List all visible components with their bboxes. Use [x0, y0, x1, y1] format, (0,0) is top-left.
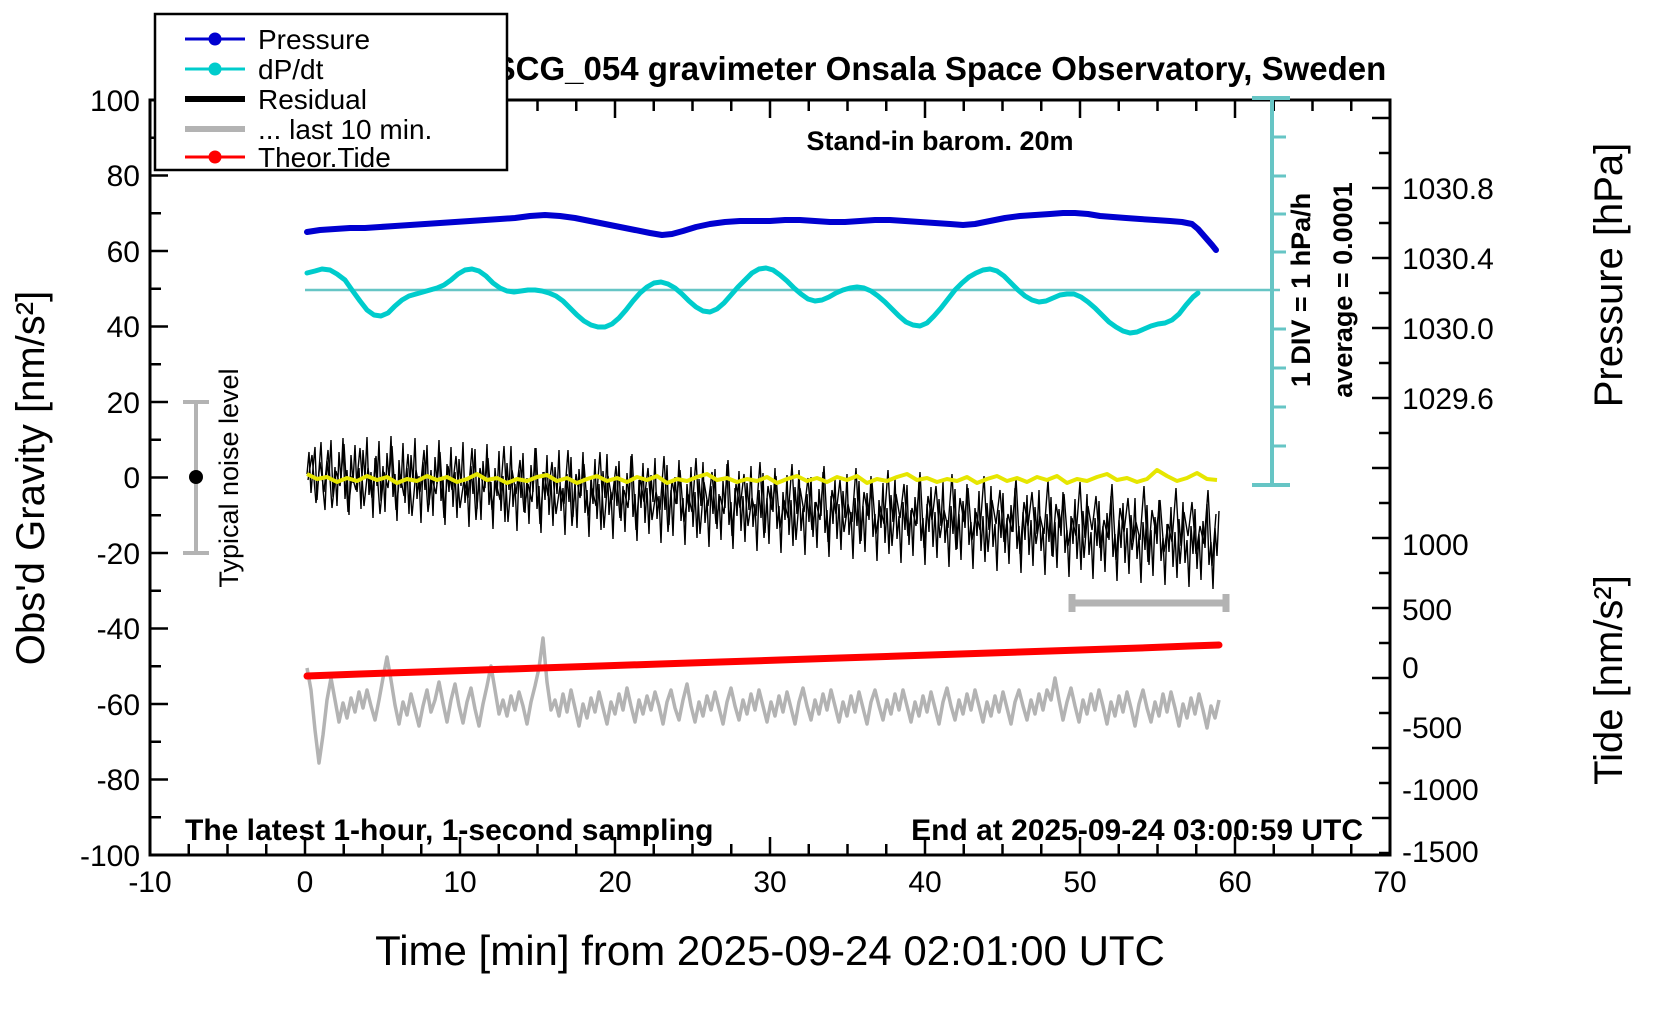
bottom-tick-label: 40: [908, 866, 941, 899]
right-bottom-tick-label: -1000: [1402, 774, 1479, 807]
right-top-tick-label: 1030.4: [1402, 243, 1494, 276]
bottom-tick-label: 30: [753, 866, 786, 899]
bottom-tick-label: 0: [297, 866, 314, 899]
typical-noise-level-marker: Typical noise level: [183, 368, 244, 587]
left-tick-label: -80: [97, 764, 140, 797]
legend-label: Pressure: [258, 24, 370, 55]
end-time-label: End at 2025-09-24 03:00:59 UTC: [911, 814, 1363, 847]
right-top-tick-label: 1030.0: [1402, 313, 1494, 346]
left-tick-label: 100: [90, 85, 140, 118]
tide-legend-marker: [209, 151, 222, 164]
gravimeter-plot-page: 100 80 60 40 20 0 -20 -40 -60 -80 -100 O…: [0, 0, 1660, 1020]
left-tick-label: -60: [97, 689, 140, 722]
typical-noise-level-label: Typical noise level: [214, 368, 244, 587]
bottom-tick-label: 70: [1373, 866, 1406, 899]
left-tick-label: 80: [107, 160, 140, 193]
dpdt-legend-marker: [209, 63, 222, 76]
bottom-tick-label: 50: [1063, 866, 1096, 899]
bottom-tick-label: 60: [1218, 866, 1251, 899]
legend-label: Theor.Tide: [258, 142, 391, 173]
left-tick-label: 60: [107, 236, 140, 269]
bottom-tick-label: 10: [443, 866, 476, 899]
pressure-legend-marker: [209, 33, 222, 46]
left-tick-label: 20: [107, 387, 140, 420]
right-bottom-tick-label: -1500: [1402, 836, 1479, 869]
noise-level-center-dot: [189, 470, 203, 484]
right-top-tick-label: 1029.6: [1402, 383, 1494, 416]
right-bottom-tick-label: -500: [1402, 712, 1462, 745]
plot-canvas: 100 80 60 40 20 0 -20 -40 -60 -80 -100 O…: [0, 0, 1660, 1020]
right-top-axis-title: Pressure [hPa]: [1587, 143, 1631, 408]
right-bottom-tick-label: 1000: [1402, 529, 1469, 562]
right-top-tick-label: 1030.8: [1402, 173, 1494, 206]
legend-label: Residual: [258, 84, 367, 115]
right-bottom-axis-title: Tide [nm/s²]: [1587, 575, 1631, 785]
standin-barom-label: Stand-in barom. 20m: [806, 126, 1073, 156]
bottom-tick-label: 20: [598, 866, 631, 899]
bottom-axis-title: Time [min] from 2025-09-24 02:01:00 UTC: [375, 927, 1165, 974]
left-tick-label: 0: [123, 462, 140, 495]
left-axis-title: Obs'd Gravity [nm/s²]: [9, 291, 53, 665]
right-bottom-tick-label: 0: [1402, 652, 1419, 685]
legend: Pressure dP/dt Residual ... last 10 min.…: [155, 14, 507, 173]
sampling-note-label: The latest 1-hour, 1-second sampling: [185, 814, 713, 847]
average-label: average = 0.0001: [1328, 182, 1358, 397]
bottom-tick-label: -10: [128, 866, 171, 899]
left-tick-label: -40: [97, 613, 140, 646]
page-title: SCG_054 gravimeter Onsala Space Observat…: [494, 50, 1387, 87]
div-scale-label: 1 DIV = 1 hPa/h: [1286, 193, 1316, 387]
left-tick-label: -20: [97, 538, 140, 571]
legend-label: dP/dt: [258, 54, 324, 85]
right-bottom-tick-label: 500: [1402, 594, 1452, 627]
legend-label: ... last 10 min.: [258, 114, 432, 145]
left-tick-label: 40: [107, 311, 140, 344]
